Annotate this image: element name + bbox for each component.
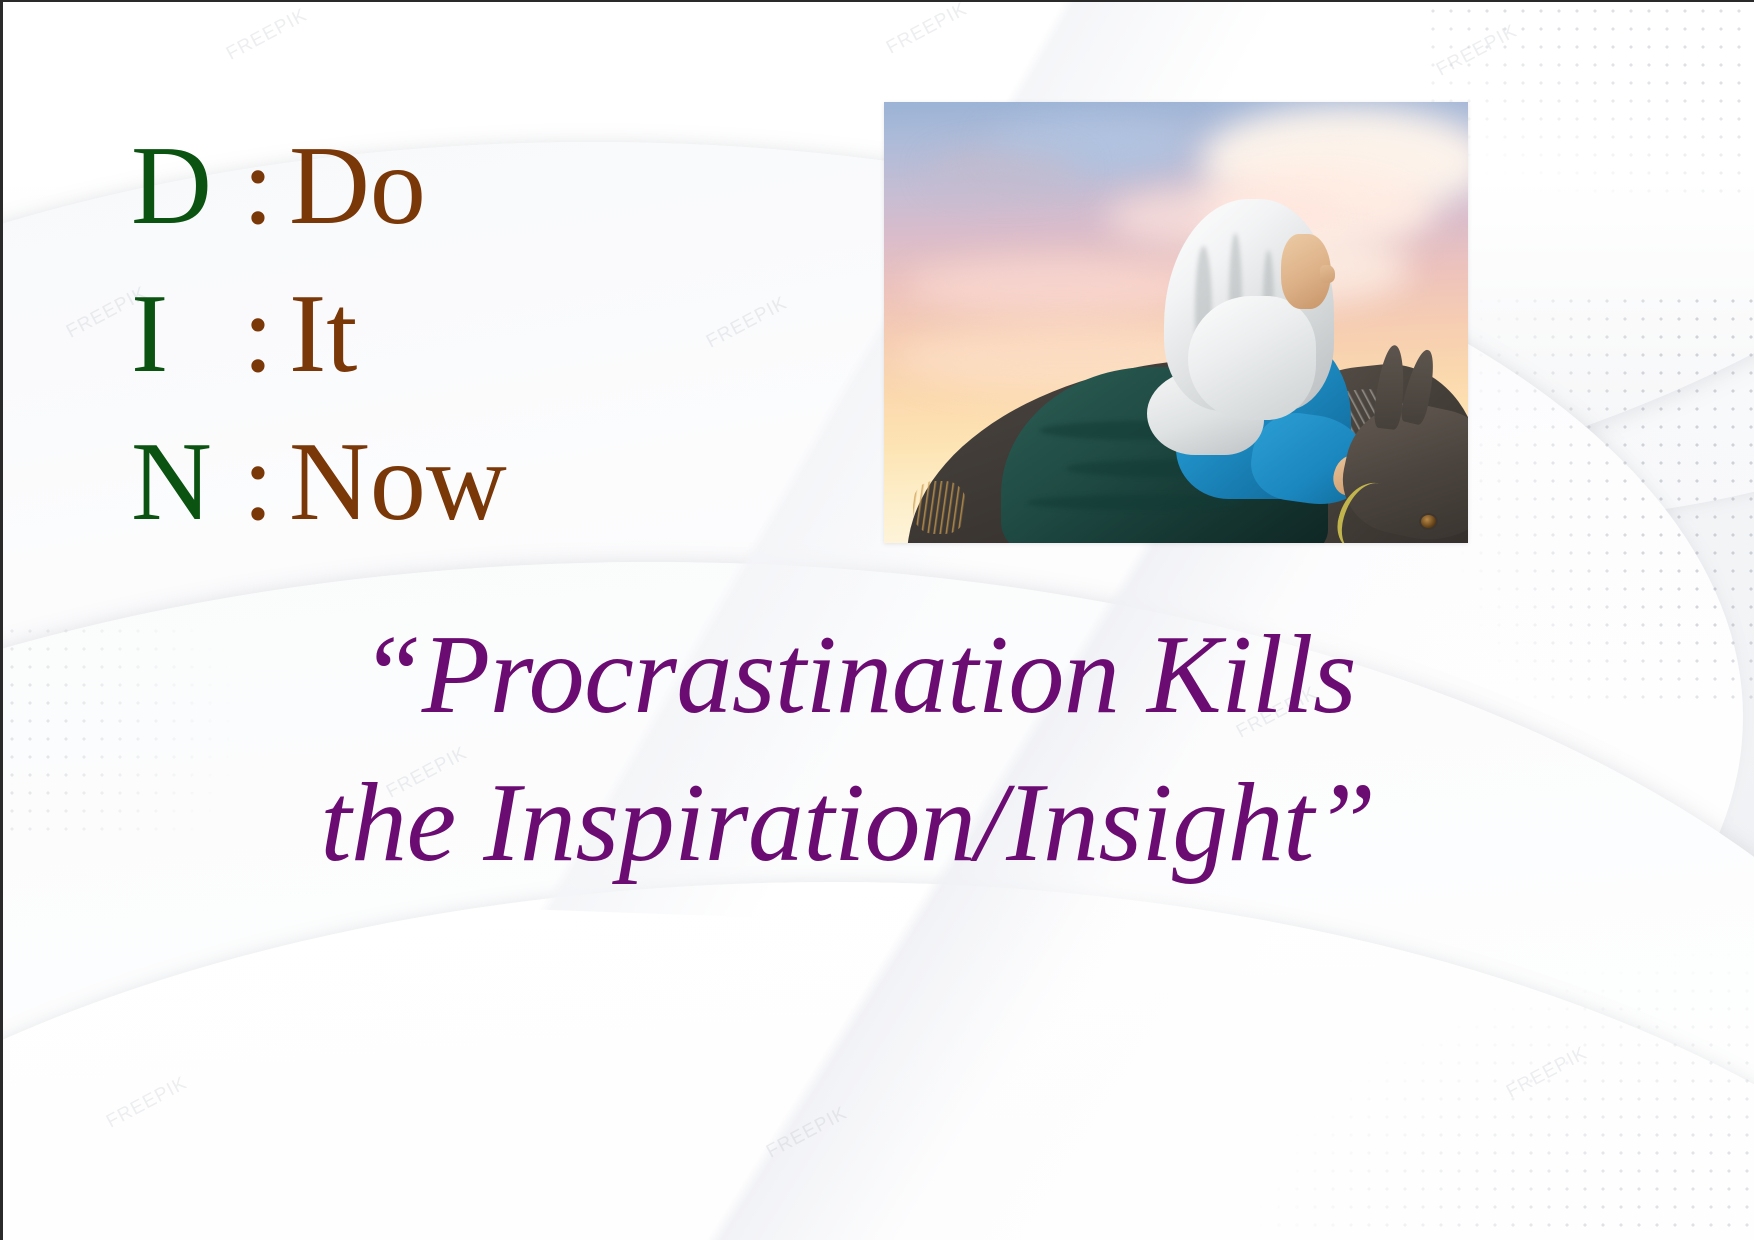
acronym-letter-d: D [131,130,227,242]
acronym-separator-i: : [227,278,289,390]
cloud [907,256,1207,316]
acronym-word-do: Do [289,130,426,242]
watermark: FREEPIK [1433,21,1521,82]
acronym-row-do: D : Do [131,130,691,278]
presentation-slide: FREEPIK FREEPIK FREEPIK FREEPIK FREEPIK … [0,0,1754,1240]
donkey-tail-tuft [913,481,966,534]
donkey-eye [1421,515,1436,528]
watermark: FREEPIK [223,5,311,66]
watermark: FREEPIK [103,1073,191,1134]
acronym-letter-i: I [131,278,227,390]
watermark: FREEPIK [703,293,791,354]
watermark: FREEPIK [883,2,971,59]
cloud [931,151,1081,191]
watermark: FREEPIK [1503,1043,1591,1104]
dot-texture-top-right [1424,2,1754,202]
acronym-block: D : Do I : It N : Now [131,130,691,574]
acronym-letter-n: N [131,426,227,538]
illustration-woman-riding-donkey [884,102,1468,543]
rider-nose [1320,265,1335,283]
veil-drape [1188,296,1316,419]
acronym-row-it: I : It [131,278,691,426]
watermark: FREEPIK [763,1103,851,1164]
acronym-separator-n: : [227,426,289,538]
acronym-word-now: Now [289,426,507,538]
background-wave-bottom [3,882,1754,1240]
dot-texture-bottom-right [1234,910,1754,1240]
quote-line-1: “Procrastination Kills [103,602,1583,750]
quote-text: “Procrastination Kills the Inspiration/I… [103,602,1583,898]
quote-line-2: the Inspiration/Insight” [103,750,1583,898]
robe-fold [1027,495,1243,511]
acronym-word-it: It [289,278,357,390]
acronym-row-now: N : Now [131,426,691,574]
acronym-separator-d: : [227,130,289,242]
